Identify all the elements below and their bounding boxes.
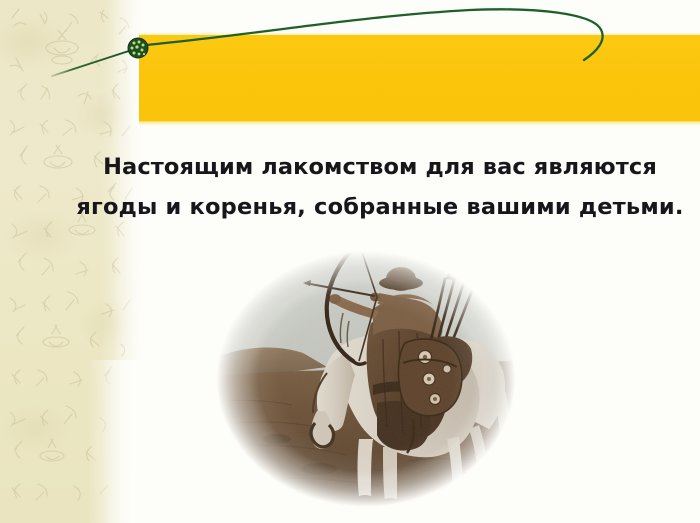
slide-headline: Настоящим лакомством для вас являются яг… [60,147,700,227]
sepia-photograph-mounted-archer [207,243,525,515]
photo-feathered-mask [207,243,525,515]
green-swoosh-decoration [0,0,700,140]
headline-line-2: ягоды и коренья, собранные вашими детьми… [60,187,700,227]
headline-line-1: Настоящим лакомством для вас являются [60,147,700,187]
border-bottom-fade [88,360,148,523]
photo-container [207,243,525,515]
presentation-slide: Настоящим лакомством для вас являются яг… [0,0,700,523]
green-dotted-seedpod-icon [127,37,149,59]
